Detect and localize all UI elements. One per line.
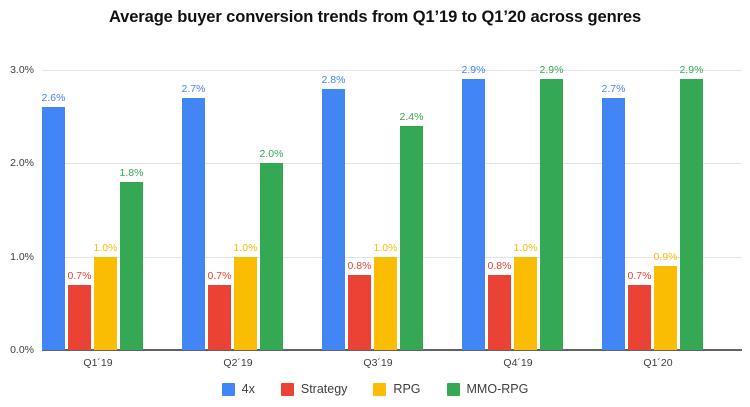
bar-value-label: 2.9%	[540, 64, 564, 76]
x-axis-tick-label: Q3´19	[363, 357, 392, 369]
bar[interactable]	[208, 285, 231, 350]
bar-value-label: 0.7%	[68, 270, 92, 282]
bar-chart: Average buyer conversion trends from Q1’…	[0, 0, 750, 407]
legend-label: Strategy	[301, 382, 348, 396]
chart-legend: 4xStrategyRPGMMO-RPG	[0, 382, 750, 396]
bar-slot: 1.0%	[514, 70, 537, 350]
bar[interactable]	[348, 275, 371, 350]
legend-swatch-icon	[447, 383, 460, 396]
bar[interactable]	[182, 98, 205, 350]
bar-value-label: 0.7%	[208, 270, 232, 282]
y-axis-tick-label: 0.0%	[10, 344, 34, 356]
bar[interactable]	[400, 126, 423, 350]
bar-slot: 1.8%	[120, 70, 143, 350]
x-axis-tick: Q3´19	[322, 352, 462, 374]
bar[interactable]	[628, 285, 651, 350]
x-axis-tick: Q1´20	[602, 352, 742, 374]
legend-item-strategy[interactable]: Strategy	[281, 382, 348, 396]
bar-slot: 0.7%	[208, 70, 231, 350]
legend-swatch-icon	[281, 383, 294, 396]
bar-group: 2.7%0.7%1.0%2.0%	[182, 70, 322, 350]
chart-title: Average buyer conversion trends from Q1’…	[0, 8, 750, 27]
x-axis-tick: Q4´19	[462, 352, 602, 374]
y-axis: 0.0%1.0%2.0%3.0%	[0, 70, 38, 350]
y-axis-tick-label: 1.0%	[10, 251, 34, 263]
bar-value-label: 2.7%	[602, 83, 626, 95]
bar-slot: 1.0%	[374, 70, 397, 350]
bar-group: 2.8%0.8%1.0%2.4%	[322, 70, 462, 350]
bar-slot: 0.7%	[628, 70, 651, 350]
bar-group: 2.6%0.7%1.0%1.8%	[42, 70, 182, 350]
legend-label: RPG	[393, 382, 420, 396]
bar-slot: 2.9%	[540, 70, 563, 350]
bar-value-label: 0.9%	[654, 251, 678, 263]
legend-label: MMO-RPG	[467, 382, 529, 396]
bar-value-label: 2.6%	[42, 92, 66, 104]
bar-slot: 2.6%	[42, 70, 65, 350]
bar-value-label: 2.7%	[182, 83, 206, 95]
bar-value-label: 1.0%	[94, 242, 118, 254]
x-axis-tick-label: Q4´19	[503, 357, 532, 369]
bar-value-label: 0.8%	[348, 260, 372, 272]
x-axis-tick-label: Q2´19	[223, 357, 252, 369]
bar[interactable]	[260, 163, 283, 350]
plot-area: 2.6%0.7%1.0%1.8%2.7%0.7%1.0%2.0%2.8%0.8%…	[42, 70, 742, 350]
bar-group: 2.7%0.7%0.9%2.9%	[602, 70, 742, 350]
bar-slot: 2.0%	[260, 70, 283, 350]
y-axis-tick-label: 3.0%	[10, 64, 34, 76]
bar[interactable]	[654, 266, 677, 350]
bar-slot: 0.8%	[488, 70, 511, 350]
bar-slot: 0.8%	[348, 70, 371, 350]
bar-value-label: 2.4%	[400, 111, 424, 123]
bar-value-label: 2.9%	[462, 64, 486, 76]
bar-slot: 2.4%	[400, 70, 423, 350]
bar-value-label: 0.8%	[488, 260, 512, 272]
bar-value-label: 1.0%	[374, 242, 398, 254]
bar[interactable]	[94, 257, 117, 350]
bar[interactable]	[540, 79, 563, 350]
bar-slot: 1.0%	[234, 70, 257, 350]
legend-swatch-icon	[222, 383, 235, 396]
x-axis-tick-label: Q1´19	[83, 357, 112, 369]
bar[interactable]	[488, 275, 511, 350]
x-axis-tick: Q1´19	[42, 352, 182, 374]
legend-item-4x[interactable]: 4x	[222, 382, 255, 396]
bar[interactable]	[234, 257, 257, 350]
bar[interactable]	[680, 79, 703, 350]
bar[interactable]	[120, 182, 143, 350]
bar-value-label: 2.0%	[260, 148, 284, 160]
bar-value-label: 1.8%	[120, 167, 144, 179]
bar[interactable]	[602, 98, 625, 350]
legend-label: 4x	[242, 382, 255, 396]
bar-slot: 0.7%	[68, 70, 91, 350]
bar-value-label: 2.8%	[322, 74, 346, 86]
bar-value-label: 2.9%	[680, 64, 704, 76]
y-axis-tick-label: 2.0%	[10, 157, 34, 169]
bar-slot: 2.7%	[182, 70, 205, 350]
bar-value-label: 1.0%	[234, 242, 258, 254]
bar-groups: 2.6%0.7%1.0%1.8%2.7%0.7%1.0%2.0%2.8%0.8%…	[42, 70, 742, 350]
bar-slot: 2.9%	[680, 70, 703, 350]
x-axis-tick-label: Q1´20	[643, 357, 672, 369]
bar[interactable]	[42, 107, 65, 350]
bar-group: 2.9%0.8%1.0%2.9%	[462, 70, 602, 350]
bar-slot: 2.9%	[462, 70, 485, 350]
bar-slot: 2.7%	[602, 70, 625, 350]
bar-value-label: 1.0%	[514, 242, 538, 254]
bar-value-label: 0.7%	[628, 270, 652, 282]
x-axis: Q1´19Q2´19Q3´19Q4´19Q1´20	[42, 352, 742, 374]
bar[interactable]	[514, 257, 537, 350]
bar-slot: 1.0%	[94, 70, 117, 350]
legend-item-rpg[interactable]: RPG	[373, 382, 420, 396]
bar-slot: 0.9%	[654, 70, 677, 350]
bar-slot: 2.8%	[322, 70, 345, 350]
bar[interactable]	[462, 79, 485, 350]
bar[interactable]	[68, 285, 91, 350]
x-axis-tick: Q2´19	[182, 352, 322, 374]
legend-item-mmo-rpg[interactable]: MMO-RPG	[447, 382, 529, 396]
legend-swatch-icon	[373, 383, 386, 396]
bar[interactable]	[374, 257, 397, 350]
bar[interactable]	[322, 89, 345, 350]
